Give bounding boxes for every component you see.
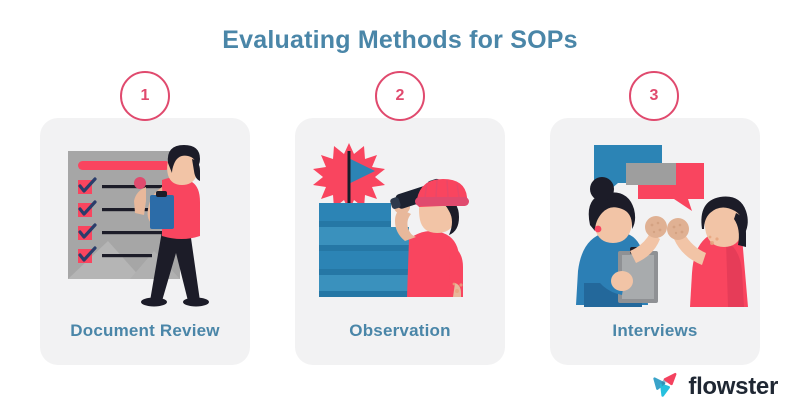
flowster-swirl-logo-icon: [650, 369, 680, 404]
step-badge-2-number: 2: [396, 87, 405, 105]
step-label-interviews: Interviews: [612, 321, 697, 341]
flowster-logo[interactable]: flowster: [650, 369, 778, 404]
observation-illustration: [295, 130, 505, 310]
flowster-logo-text: flowster: [688, 373, 778, 401]
steps-container: Document Review: [40, 118, 760, 365]
page-title: Evaluating Methods for SOPs: [0, 26, 800, 55]
interviews-illustration: [550, 130, 760, 310]
step-card-observation[interactable]: Observation: [295, 118, 505, 365]
step-badge-1-number: 1: [141, 87, 150, 105]
step-badge-2: 2: [375, 71, 425, 121]
step-badge-1: 1: [120, 71, 170, 121]
step-badge-3-number: 3: [650, 87, 659, 105]
step-badge-3: 3: [629, 71, 679, 121]
step-label-observation: Observation: [349, 321, 450, 341]
step-card-interviews[interactable]: Interviews: [550, 118, 760, 365]
document-review-illustration: [40, 130, 250, 310]
step-card-document-review[interactable]: Document Review: [40, 118, 250, 365]
step-label-document-review: Document Review: [70, 321, 219, 341]
